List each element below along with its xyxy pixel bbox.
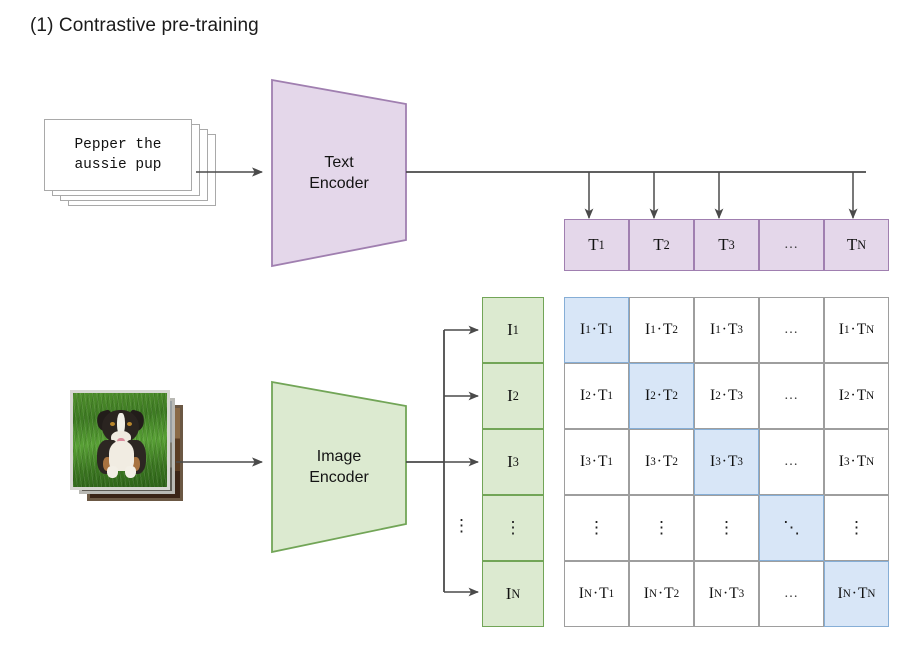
similarity-cell: I3·T1: [564, 429, 629, 495]
similarity-cell: I1·T2: [629, 297, 694, 363]
image-bus-ellipsis: ⋮: [453, 516, 470, 536]
similarity-cell: I2·T2: [629, 363, 694, 429]
similarity-cell: IN·T2: [629, 561, 694, 627]
similarity-cell: I1·TN: [824, 297, 889, 363]
text-embedding-cell: TN: [824, 219, 889, 271]
similarity-cell: IN·T1: [564, 561, 629, 627]
text-embedding-cell: T1: [564, 219, 629, 271]
similarity-cell: IN·TN: [824, 561, 889, 627]
similarity-cell: …: [759, 561, 824, 627]
similarity-cell: I2·TN: [824, 363, 889, 429]
similarity-cell: I1·T1: [564, 297, 629, 363]
similarity-cell: I2·T1: [564, 363, 629, 429]
similarity-cell: …: [759, 363, 824, 429]
similarity-cell: I3·T2: [629, 429, 694, 495]
image-embedding-cell: I2: [482, 363, 544, 429]
text-encoder-shape: [272, 80, 406, 266]
similarity-cell: I3·TN: [824, 429, 889, 495]
text-embedding-cell: T2: [629, 219, 694, 271]
similarity-cell: ⋮: [564, 495, 629, 561]
similarity-cell: …: [759, 297, 824, 363]
similarity-cell: I2·T3: [694, 363, 759, 429]
image-embedding-cell: ⋮: [482, 495, 544, 561]
text-embedding-cell: T3: [694, 219, 759, 271]
similarity-cell: I3·T3: [694, 429, 759, 495]
similarity-cell: ⋱: [759, 495, 824, 561]
image-embedding-cell: I3: [482, 429, 544, 495]
similarity-cell: I1·T3: [694, 297, 759, 363]
similarity-cell: ⋮: [694, 495, 759, 561]
similarity-cell: ⋮: [629, 495, 694, 561]
text-embedding-cell: …: [759, 219, 824, 271]
similarity-cell: IN·T3: [694, 561, 759, 627]
diagram-canvas: (1) Contrastive pre-training Pepper the …: [0, 0, 906, 654]
image-embedding-cell: IN: [482, 561, 544, 627]
image-embedding-cell: I1: [482, 297, 544, 363]
similarity-cell: ⋮: [824, 495, 889, 561]
image-encoder-shape: [272, 382, 406, 552]
similarity-cell: …: [759, 429, 824, 495]
